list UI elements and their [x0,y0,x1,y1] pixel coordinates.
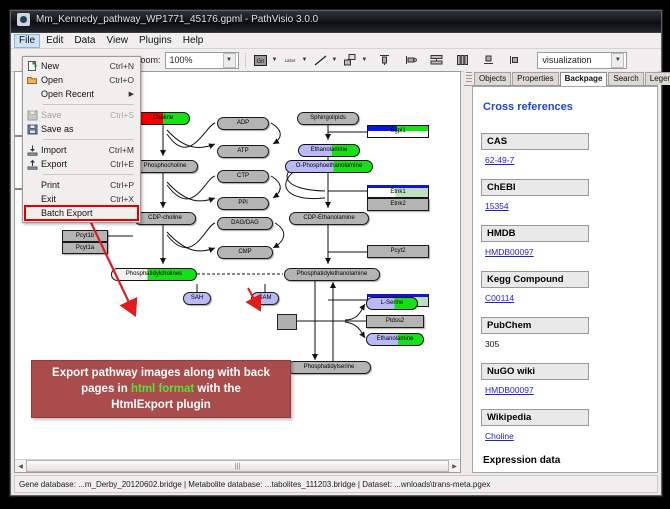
pathway-node-cdp-ethanol[interactable]: CDP-Ethanolamine [289,212,369,225]
toolbar-separator [245,53,246,68]
callout-line1: Export pathway images along with back [52,367,270,379]
callout-text: Export pathway images along with back pa… [46,365,276,413]
file-menu-item-label: New [41,61,110,71]
menu-help[interactable]: Help [178,34,209,48]
xref-cas: CAS 62-49-7 [481,133,649,168]
file-menu-item-label: Save [41,110,110,120]
file-menu-item-label: Open Recent [41,89,129,99]
align-top-icon[interactable] [375,51,393,69]
window-title: Mm_Kennedy_pathway_WP1771_45176.gpml - P… [36,14,318,25]
visualization-value: visualization [542,55,591,65]
file-menu-separator [43,139,134,140]
pathway-node-sam[interactable]: SAM [251,292,279,305]
pathway-node-sphingolipids[interactable]: Sphingolipids [297,112,359,125]
file-menu-item-accelerator: Ctrl+X [110,194,140,204]
xref-hmdb: HMDB HMDB00097 [481,225,649,260]
canvas-horizontal-scrollbar[interactable]: ◀ ||| ▶ [15,459,460,472]
file-menu-item-accelerator: Ctrl+O [109,75,140,85]
pathway-node-etnk2[interactable]: Etnk2 [367,198,429,211]
new-file-icon [23,61,41,72]
svg-text:Gn: Gn [257,59,265,65]
file-menu-item-exit[interactable]: ExitCtrl+X [23,192,140,206]
callout-line2-b: with the [194,383,241,395]
scroll-left-icon[interactable]: ◀ [15,461,26,472]
scroll-thumb[interactable]: ||| [26,460,449,472]
align-columns-icon[interactable] [453,51,471,69]
file-menu-item-label: Save as [41,124,134,134]
pathway-node-ppi[interactable]: PPi [217,197,269,210]
pathway-node-ptd-cholines[interactable]: Phosphatidylcholines [111,268,197,281]
file-menu-dropdown[interactable]: NewCtrl+NOpenCtrl+OOpen Recent▶SaveCtrl+… [22,56,141,223]
file-menu-item-open-recent[interactable]: Open Recent▶ [23,87,140,101]
xref-label: Kegg Compound [481,271,589,288]
pathway-node-etnk1[interactable]: Etnk1 [367,185,429,198]
xref-link[interactable]: C00114 [485,293,514,303]
xref-label: PubChem [481,317,589,334]
pathway-node-ptd-serine[interactable]: Phosphatidylserine [287,361,371,374]
geneproduct-dropdown-icon[interactable]: ▼ [272,57,278,63]
xref-chebi: ChEBI 15354 [481,179,649,214]
anchor-shape[interactable] [277,314,297,330]
menu-plugins[interactable]: Plugins [134,34,177,48]
pathway-node-phosphocholine[interactable]: Phosphocholine [132,160,198,173]
file-menu-item-label: Export [41,159,110,169]
tab-legend[interactable]: Legend [645,72,670,85]
shape-dropdown-icon[interactable]: ▼ [361,57,367,63]
file-menu-item-accelerator: Ctrl+M [109,145,140,155]
align-left-icon[interactable] [401,51,419,69]
save-disk-icon [23,110,41,121]
annotation-callout: Export pathway images along with back pa… [31,360,291,418]
tab-objects[interactable]: Objects [474,72,511,85]
xref-label: ChEBI [481,179,589,196]
tab-properties[interactable]: Properties [512,72,558,85]
line-tool-icon[interactable] [311,51,329,69]
save-as-icon [23,124,41,135]
tab-search[interactable]: Search [608,72,643,85]
xref-label: NuGO wiki [481,363,589,380]
xref-link[interactable]: 62-49-7 [485,155,514,165]
screenshot-frame: Mm_Kennedy_pathway_WP1771_45176.gpml - P… [0,0,670,509]
pathway-node-l-serine[interactable]: L-Serine [366,297,418,310]
menu-file[interactable]: File [14,34,40,48]
expression-data-heading: Expression data [483,455,649,466]
file-menu-item-label: Exit [41,194,110,204]
pathway-node-ptdss2[interactable]: Ptdss2 [366,315,424,328]
pathway-node-pcyt1b[interactable]: Pcyt1b [62,230,108,242]
statusbar: Gene database: ...m_Derby_20120602.bridg… [14,475,658,493]
pathway-node-adp[interactable]: ADP [217,117,269,130]
pathvisio-icon [17,13,30,26]
file-menu-item-accelerator: Ctrl+S [110,110,140,120]
xref-link[interactable]: Choline [485,431,514,441]
file-menu-item-accelerator: Ctrl+E [110,159,140,169]
visualization-combo[interactable]: visualization ▼ [537,52,627,69]
svg-text:Label: Label [285,58,296,63]
scroll-right-icon[interactable]: ▶ [449,461,460,472]
panel-drag-handle[interactable] [466,72,472,84]
pathway-node-cdp-choline[interactable]: CDP-choline [134,212,196,225]
pathway-node-sgpl1[interactable]: Sgpl1 [367,125,429,138]
xref-nugo-wiki: NuGO wiki HMDB00097 [481,363,649,398]
pathvisio-window: Mm_Kennedy_pathway_WP1771_45176.gpml - P… [10,10,662,496]
export-icon [23,159,41,170]
callout-line2-a: pages in [81,383,131,395]
label-dropdown-icon[interactable]: ▼ [301,57,307,63]
submenu-arrow-icon: ▶ [129,90,140,98]
file-menu-item-label: Open [41,75,109,85]
xref-wikipedia: Wikipedia Choline [481,409,649,444]
line-dropdown-icon[interactable]: ▼ [331,57,337,63]
shape-tool-icon[interactable] [341,51,359,69]
xref-value: 305 [485,339,499,349]
file-menu-item-label: Import [41,145,109,155]
callout-line3: HtmlExport plugin [111,399,211,411]
xref-link[interactable]: HMDB00097 [485,385,534,395]
tab-backpage[interactable]: Backpage [560,72,608,86]
file-menu-item-export[interactable]: ExportCtrl+E [23,157,140,171]
window-titlebar: Mm_Kennedy_pathway_WP1771_45176.gpml - P… [11,11,661,33]
pathway-node-ctp[interactable]: CTP [217,170,269,183]
file-menu-separator [43,104,134,105]
menu-edit[interactable]: Edit [41,34,68,48]
pathway-node-ethanolamine1[interactable]: Ethanolamine [298,144,360,157]
pathway-node-atp[interactable]: ATP [217,145,269,158]
pathway-node-o-phosphoetha[interactable]: O-Phosphoethanolamine [285,160,373,173]
backpage-content: Cross references CAS 62-49-7 ChEBI 15354… [472,86,658,473]
file-menu-item-save-as[interactable]: Save as [23,122,140,136]
file-menu-item-print[interactable]: PrintCtrl+P [23,178,140,192]
chevron-down-icon[interactable]: ▼ [611,53,624,68]
zoom-value: 100% [170,55,193,65]
align-bottom-icon[interactable] [479,51,497,69]
pathway-node-ptd-ethanol[interactable]: Phosphatidylethanolamine [284,268,380,281]
menubar[interactable]: File Edit Data View Plugins Help [11,33,661,49]
file-menu-separator [43,174,134,175]
label-tool-icon[interactable]: Label [281,51,299,69]
xref-kegg-compound: Kegg Compound C00114 [481,271,649,306]
menu-view[interactable]: View [101,34,133,48]
file-menu-item-new[interactable]: NewCtrl+N [23,59,140,73]
cross-references-heading: Cross references [483,101,649,113]
xref-label: Wikipedia [481,409,589,426]
file-menu-item-label: Batch Export [41,208,134,218]
menu-data[interactable]: Data [69,34,100,48]
xref-link[interactable]: HMDB00097 [485,247,534,257]
chevron-down-icon[interactable]: ▼ [223,53,236,68]
pathway-node-cmp[interactable]: CMP [217,246,273,259]
pathway-node-choline[interactable]: Choline [136,112,190,125]
xref-label: CAS [481,133,589,150]
xref-link[interactable]: 15354 [485,201,509,211]
xref-pubchem: PubChem 305 [481,317,649,352]
geneproduct-tool-icon[interactable]: Gn [252,51,270,69]
file-menu-item-import[interactable]: ImportCtrl+M [23,143,140,157]
file-menu-item-label: Print [41,180,110,190]
align-stack-icon[interactable] [427,51,445,69]
import-icon [23,145,41,156]
file-menu-item-batch-export[interactable]: Batch Export [23,206,140,220]
pathway-node-sah[interactable]: SAH [183,292,211,305]
statusbar-text: Gene database: ...m_Derby_20120602.bridg… [15,480,490,489]
file-menu-item-accelerator: Ctrl+N [110,61,140,71]
side-panel-tabs[interactable]: Objects Properties Backpage Search Legen… [464,71,658,86]
align-right-icon[interactable] [505,51,523,69]
file-menu-item-accelerator: Ctrl+P [110,180,140,190]
side-panel: Objects Properties Backpage Search Legen… [464,71,658,473]
pathway-node-dagdag[interactable]: DAG/DAG [217,217,273,230]
file-menu-item-open[interactable]: OpenCtrl+O [23,73,140,87]
file-menu-item-save: SaveCtrl+S [23,108,140,122]
xref-label: HMDB [481,225,589,242]
pathway-node-pcyt1a[interactable]: Pcyt1a [62,242,108,254]
pathway-node-ethanolamine2[interactable]: Ethanolamine [366,333,424,346]
callout-highlight: html format [131,383,194,395]
open-folder-icon [23,75,41,86]
pathway-node-pcyt2[interactable]: Pcyt2 [367,245,429,258]
zoom-combo[interactable]: 100% ▼ [165,52,239,69]
